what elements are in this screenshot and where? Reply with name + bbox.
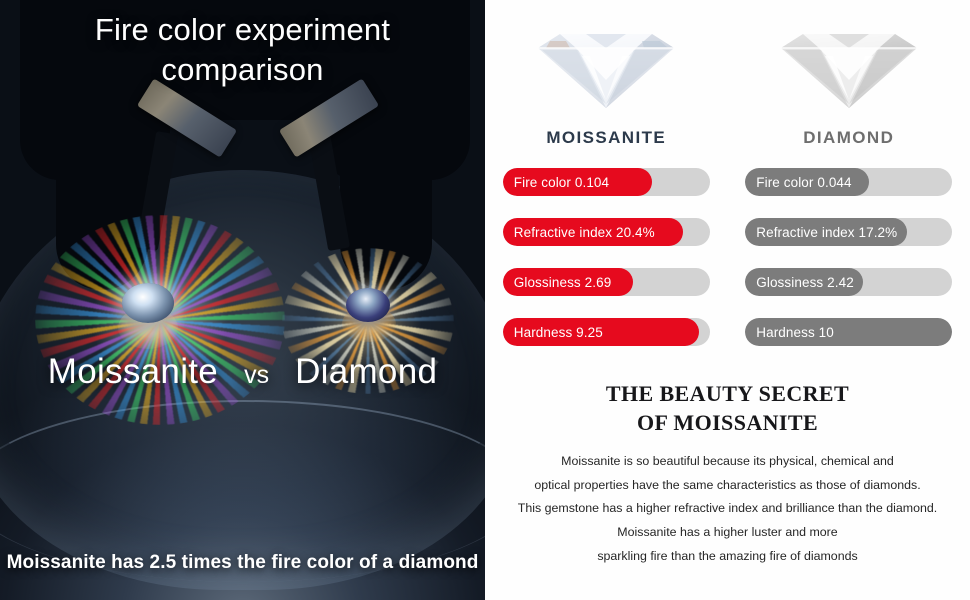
paragraph-line: Moissanite has a higher luster and more: [499, 524, 956, 541]
fire-color-photo-panel: Fire color experiment comparison Moissan…: [0, 0, 485, 600]
bar-label: Refractive index 20.4%: [514, 218, 655, 246]
bar-label: Glossiness 2.69: [514, 268, 612, 296]
bar-label: Refractive index 17.2%: [756, 218, 897, 246]
stand-leg-left: [56, 150, 148, 290]
heading-line-2: OF MOISSANITE: [637, 410, 818, 435]
comparison-bars: Fire color 0.104 Refractive index 20.4% …: [485, 168, 970, 346]
bars-column-diamond: Fire color 0.044 Refractive index 17.2% …: [728, 168, 970, 346]
versus-label-vs: vs: [244, 361, 269, 390]
bar-label: Fire color 0.104: [514, 168, 609, 196]
beauty-secret-heading: THE BEAUTY SECRET OF MOISSANITE: [485, 380, 970, 437]
bar-refractive-index-diamond: Refractive index 17.2%: [745, 218, 952, 246]
versus-row: Moissanite vs Diamond: [0, 352, 485, 392]
stand-leg-right: [340, 150, 432, 290]
bar-hardness-moissanite: Hardness 9.25: [503, 318, 710, 346]
paragraph-line: optical properties have the same charact…: [499, 477, 956, 494]
diamond-stone: [346, 288, 390, 322]
bar-glossiness-moissanite: Glossiness 2.69: [503, 268, 710, 296]
versus-label-moissanite: Moissanite: [48, 352, 218, 392]
versus-label-diamond: Diamond: [295, 352, 437, 392]
bar-label: Hardness 10: [756, 318, 834, 346]
bars-column-moissanite: Fire color 0.104 Refractive index 20.4% …: [485, 168, 728, 346]
bar-refractive-index-moissanite: Refractive index 20.4%: [503, 218, 710, 246]
paragraph-line: Moissanite is so beautiful because its p…: [499, 453, 956, 470]
column-diamond: DIAMOND: [728, 8, 970, 148]
paragraph-line: This gemstone has a higher refractive in…: [499, 500, 956, 517]
bar-label: Glossiness 2.42: [756, 268, 854, 296]
column-moissanite: MOISSANITE: [485, 8, 728, 148]
heading-line-1: THE BEAUTY SECRET: [606, 381, 849, 406]
photo-caption: Moissanite has 2.5 times the fire color …: [0, 552, 485, 574]
comparison-infographic: Fire color experiment comparison Moissan…: [0, 0, 970, 600]
bar-label: Fire color 0.044: [756, 168, 851, 196]
bar-fire-color-diamond: Fire color 0.044: [745, 168, 952, 196]
moissanite-stone: [122, 283, 174, 323]
bar-glossiness-diamond: Glossiness 2.42: [745, 268, 952, 296]
bar-fire-color-moissanite: Fire color 0.104: [503, 168, 710, 196]
gem-header-row: MOISSANITE: [485, 0, 970, 148]
paragraph-line: sparkling fire than the amazing fire of …: [499, 548, 956, 565]
specs-panel: MOISSANITE: [485, 0, 970, 600]
column-label-diamond: DIAMOND: [803, 128, 894, 148]
experiment-title: Fire color experiment comparison: [0, 10, 485, 91]
bar-hardness-diamond: Hardness 10: [745, 318, 952, 346]
bar-label: Hardness 9.25: [514, 318, 603, 346]
column-label-moissanite: MOISSANITE: [546, 128, 666, 148]
diamond-gem-image: [763, 8, 935, 120]
moissanite-gem-image: [520, 8, 692, 120]
description-paragraph: Moissanite is so beautiful because its p…: [485, 453, 970, 564]
